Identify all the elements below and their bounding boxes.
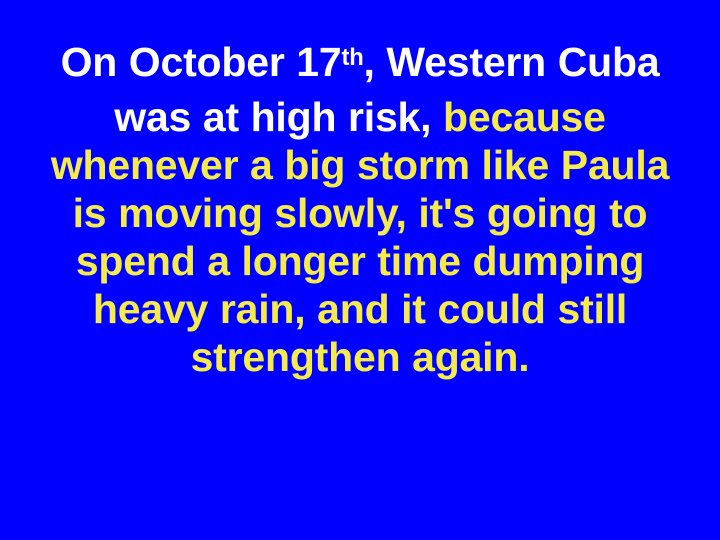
text-line-2: was at high risk, because <box>28 93 692 141</box>
text-segment: was at high risk, <box>114 94 443 140</box>
text-segment: spend a longer time dumping <box>76 238 644 284</box>
text-segment-highlight: because <box>443 94 606 140</box>
text-segment: is moving slowly, it's going to <box>73 190 648 236</box>
text-segment: strengthen again. <box>191 334 530 380</box>
presentation-slide: On October 17th, Western Cuba was at hig… <box>0 0 720 540</box>
text-line-6: heavy rain, and it could still <box>28 285 692 333</box>
text-segment: , Western Cuba <box>364 39 660 85</box>
text-line-7: strengthen again. <box>28 333 692 381</box>
text-line-4: is moving slowly, it's going to <box>28 189 692 237</box>
text-segment: whenever a big storm like Paula <box>51 142 669 188</box>
text-segment: On October 17 <box>61 39 342 85</box>
text-segment: heavy rain, and it could still <box>93 286 627 332</box>
text-line-5: spend a longer time dumping <box>28 237 692 285</box>
slide-text-body: On October 17th, Western Cuba was at hig… <box>0 38 720 381</box>
text-line-3: whenever a big storm like Paula <box>28 141 692 189</box>
text-line-1: On October 17th, Western Cuba <box>28 38 692 93</box>
ordinal-suffix-superscript: th <box>342 44 364 71</box>
